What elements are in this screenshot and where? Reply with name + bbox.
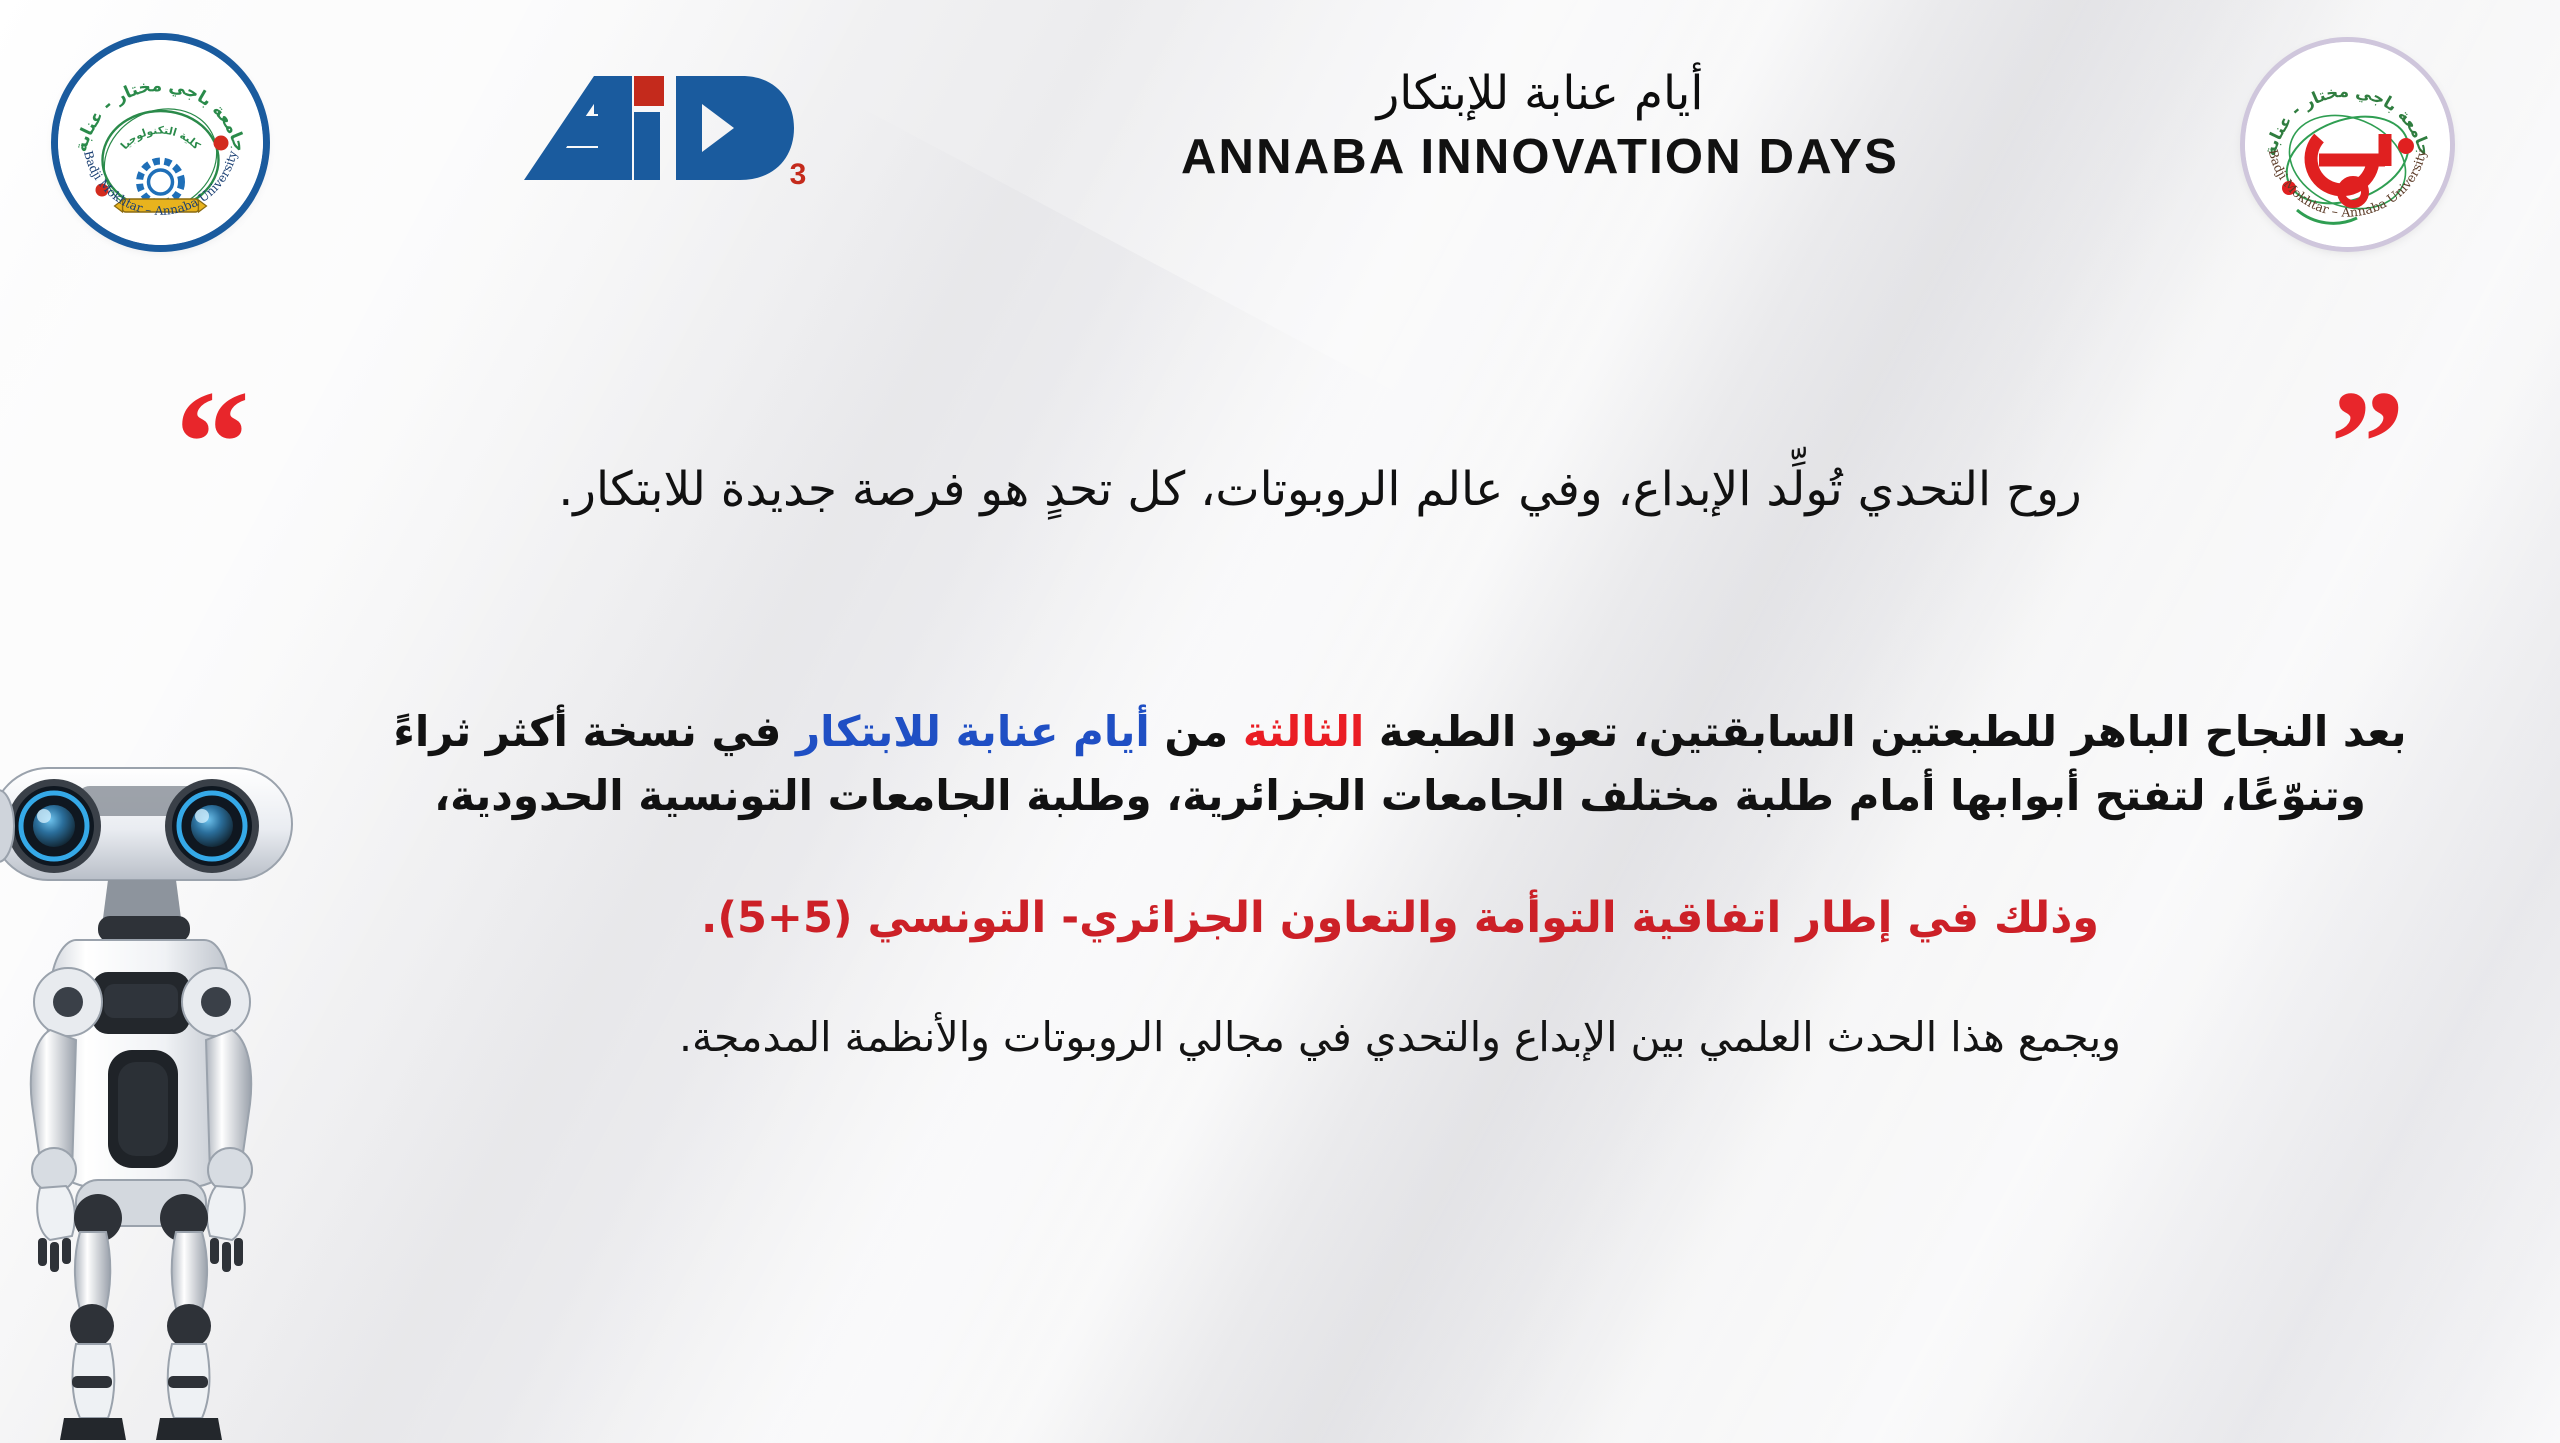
title-block: أيام عنابة للإبتكار ANNABA INNOVATION DA… <box>850 62 2230 185</box>
poster-header: جامعة باجي مختار - عنابة كلية التكنولوجي… <box>0 0 2560 240</box>
svg-text:3: 3 <box>790 158 807 191</box>
page-title-english: ANNABA INNOVATION DAYS <box>850 129 2230 185</box>
badji-mokhtar-university-seal: جامعة باجي مختار - عنابة Badji Mokhtar – <box>2245 42 2450 247</box>
paragraph-segment-normal: بعد النجاح الباهر للطبعتين السابقتين، تع… <box>1364 707 2406 756</box>
paragraph-agreement: وذلك في إطار اتفاقية التوأمة والتعاون ال… <box>340 886 2460 951</box>
aid-logo: 3 <box>520 68 810 193</box>
paragraph-segment-normal: من <box>1150 707 1243 756</box>
body-text-block: بعد النجاح الباهر للطبعتين السابقتين، تع… <box>340 700 2460 1070</box>
robot-illustration <box>0 740 470 1443</box>
page-title-arabic: أيام عنابة للإبتكار <box>850 62 2230 125</box>
quote-text: روح التحدي تُولِّد الإبداع، وفي عالم الر… <box>230 455 2410 526</box>
paragraph-intro: بعد النجاح الباهر للطبعتين السابقتين، تع… <box>340 700 2460 828</box>
poster-canvas: جامعة باجي مختار - عنابة كلية التكنولوجي… <box>0 0 2560 1443</box>
paragraph-segment-blue: أيام عنابة للابتكار <box>796 707 1150 756</box>
paragraph-scope: ويجمع هذا الحدث العلمي بين الإبداع والتح… <box>340 1006 2460 1070</box>
paragraph-segment-red: الثالثة <box>1243 707 1364 756</box>
faculty-of-technology-seal: جامعة باجي مختار - عنابة كلية التكنولوجي… <box>58 40 263 245</box>
